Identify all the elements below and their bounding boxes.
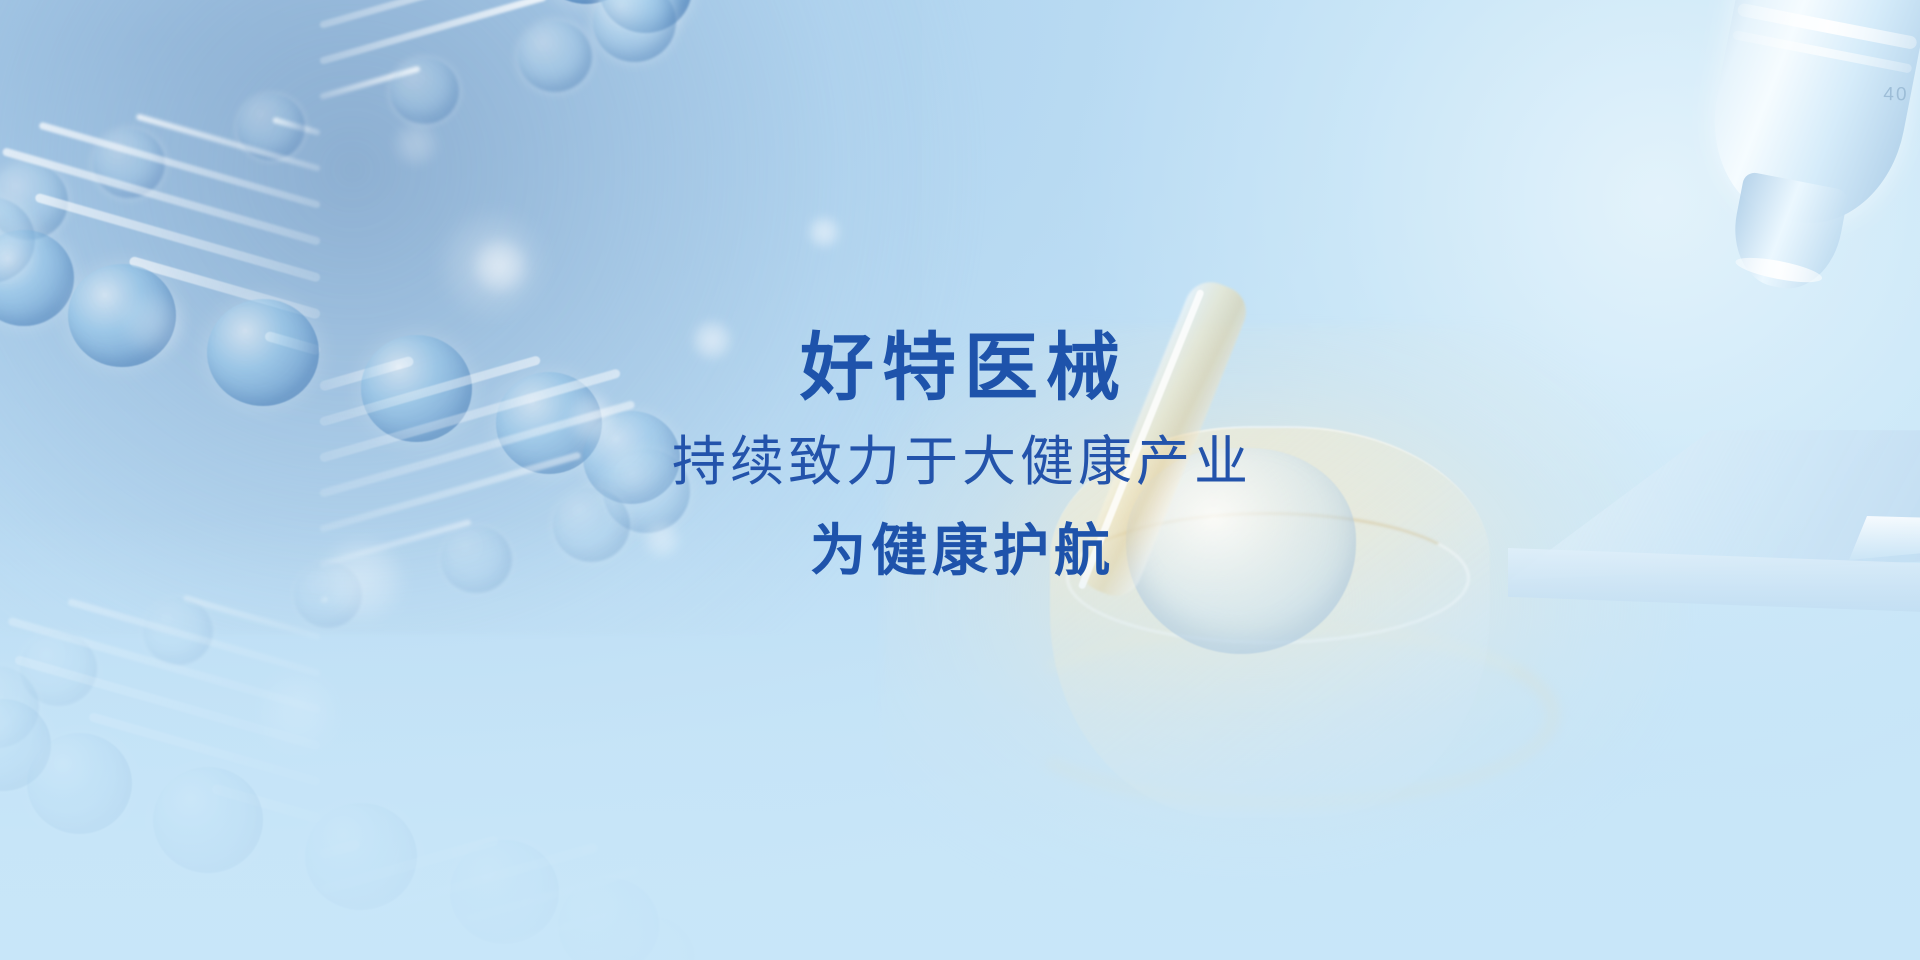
page-tagline: 为健康护航 bbox=[0, 520, 1920, 582]
microscope-magnification-label: 40 bbox=[1883, 84, 1909, 106]
bokeh-dot bbox=[806, 214, 842, 250]
page-subtitle: 持续致力于大健康产业 bbox=[0, 433, 1920, 492]
background-bottom-fade bbox=[0, 518, 1920, 960]
page-title: 好特医械 bbox=[0, 330, 1920, 407]
bokeh-dot bbox=[392, 120, 440, 168]
hero-copy-block: 好特医械 持续致力于大健康产业 为健康护航 bbox=[0, 330, 1920, 582]
hero-banner: 40 好特医械 持续致力于大健康产业 为健康护航 bbox=[0, 0, 1920, 960]
bokeh-dot bbox=[470, 236, 530, 296]
